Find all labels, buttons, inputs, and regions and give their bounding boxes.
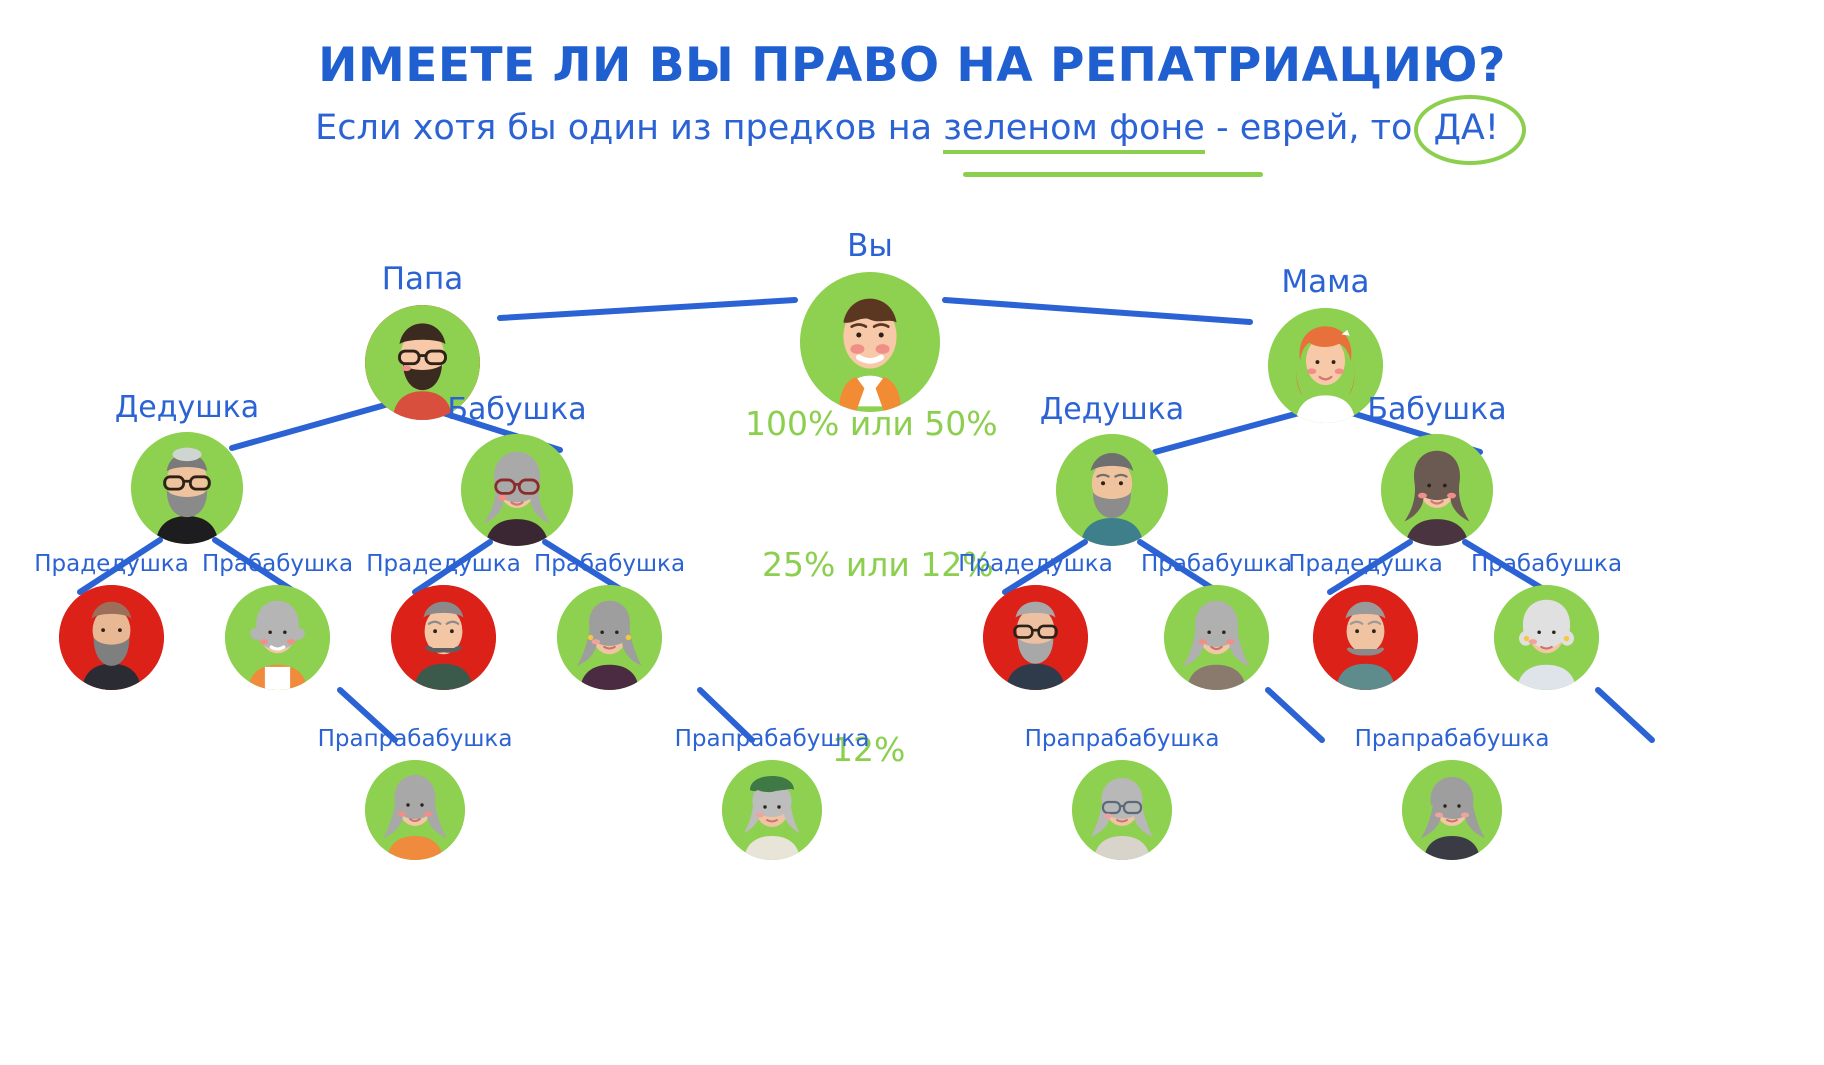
node-paternal-grandfather[interactable]: Дедушка — [131, 432, 243, 544]
avatar-great-great-grandmother-2 — [722, 760, 822, 860]
avatar-mother — [1268, 308, 1383, 423]
avatar-great-grandfather-2 — [391, 585, 496, 690]
node-great-grandfather-3[interactable]: Прадедушка — [983, 585, 1088, 690]
avatar-great-great-grandmother-1 — [365, 760, 465, 860]
avatar-great-grandfather-1 — [59, 585, 164, 690]
avatar-great-grandmother-3 — [1164, 585, 1269, 690]
node-maternal-grandmother[interactable]: Бабушка — [1381, 434, 1493, 546]
avatar-paternal-grandfather — [131, 432, 243, 544]
node-great-grandmother-2[interactable]: Прабабушка — [557, 585, 662, 690]
node-great-grandfather-1[interactable]: Прадедушка — [59, 585, 164, 690]
avatar-great-grandmother-1 — [225, 585, 330, 690]
node-great-grandfather-4[interactable]: Прадедушка — [1313, 585, 1418, 690]
node-great-great-grandmother-2[interactable]: Прапрабабушка — [722, 760, 822, 860]
node-great-grandfather-4-label: Прадедушка — [1288, 551, 1443, 577]
node-mother-label: Мама — [1281, 264, 1369, 300]
node-great-great-grandmother-4-label: Прапрабабушка — [1355, 726, 1550, 752]
tree-connector-lines — [0, 0, 1824, 1065]
avatar-you — [800, 272, 940, 412]
node-great-grandmother-4[interactable]: Прабабушка — [1494, 585, 1599, 690]
node-great-great-grandmother-3[interactable]: Прапрабабушка — [1072, 760, 1172, 860]
node-great-great-grandmother-1-label: Прапрабабушка — [318, 726, 513, 752]
node-great-grandmother-3[interactable]: Прабабушка — [1164, 585, 1269, 690]
node-great-grandmother-1-label: Прабабушка — [202, 551, 353, 577]
avatar-great-great-grandmother-3 — [1072, 760, 1172, 860]
node-mother[interactable]: Мама — [1268, 308, 1383, 423]
avatar-maternal-grandmother — [1381, 434, 1493, 546]
avatar-great-grandfather-3 — [983, 585, 1088, 690]
avatar-maternal-grandfather — [1056, 434, 1168, 546]
node-paternal-grandmother[interactable]: Бабушка — [461, 434, 573, 546]
node-maternal-grandfather[interactable]: Дедушка — [1056, 434, 1168, 546]
node-great-grandmother-4-label: Прабабушка — [1471, 551, 1622, 577]
avatar-great-grandmother-2 — [557, 585, 662, 690]
infographic-canvas: ИМЕЕТЕ ЛИ ВЫ ПРАВО НА РЕПАТРИАЦИЮ? Если … — [0, 0, 1824, 1065]
avatar-great-grandmother-4 — [1494, 585, 1599, 690]
node-great-grandmother-1[interactable]: Прабабушка — [225, 585, 330, 690]
node-you-label: Вы — [847, 228, 893, 264]
node-great-grandmother-3-label: Прабабушка — [1141, 551, 1292, 577]
node-paternal-grandfather-label: Дедушка — [115, 390, 259, 425]
node-great-grandfather-2[interactable]: Прадедушка — [391, 585, 496, 690]
node-great-great-grandmother-2-label: Прапрабабушка — [675, 726, 870, 752]
node-great-grandfather-2-label: Прадедушка — [366, 551, 521, 577]
node-maternal-grandfather-label: Дедушка — [1040, 392, 1184, 427]
avatar-paternal-grandmother — [461, 434, 573, 546]
node-great-grandfather-3-label: Прадедушка — [958, 551, 1113, 577]
node-you[interactable]: Вы — [800, 272, 940, 412]
node-great-grandfather-1-label: Прадедушка — [34, 551, 189, 577]
node-great-grandmother-2-label: Прабабушка — [534, 551, 685, 577]
node-great-great-grandmother-4[interactable]: Прапрабабушка — [1402, 760, 1502, 860]
node-paternal-grandmother-label: Бабушка — [447, 392, 586, 427]
node-father-label: Папа — [382, 261, 464, 297]
avatar-great-great-grandmother-4 — [1402, 760, 1502, 860]
node-great-great-grandmother-3-label: Прапрабабушка — [1025, 726, 1220, 752]
avatar-great-grandfather-4 — [1313, 585, 1418, 690]
node-maternal-grandmother-label: Бабушка — [1367, 392, 1506, 427]
node-great-great-grandmother-1[interactable]: Прапрабабушка — [365, 760, 465, 860]
